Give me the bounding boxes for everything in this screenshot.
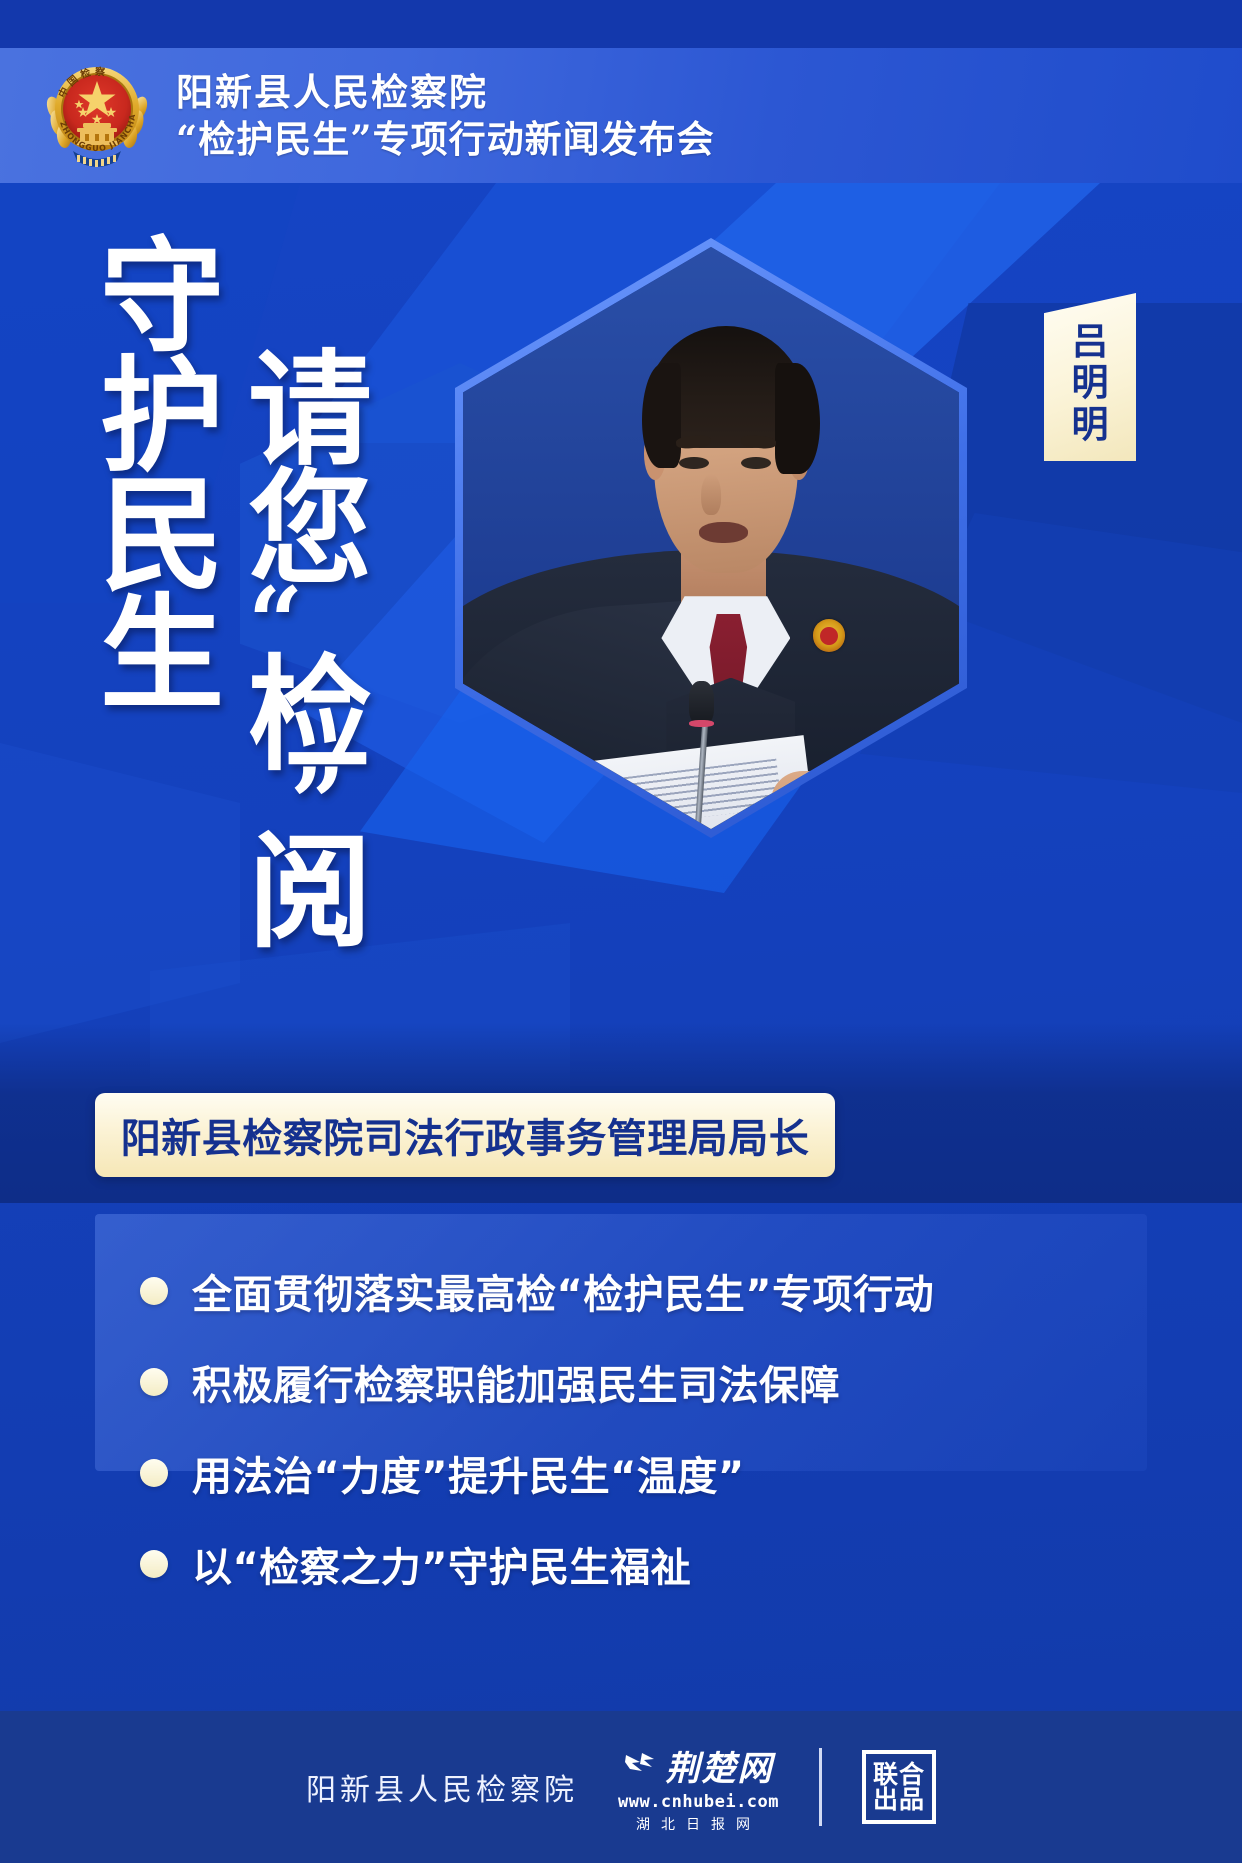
- portrait-eye-left: [679, 457, 709, 469]
- cnhubei-url: www.cnhubei.com: [618, 1792, 779, 1812]
- speaker-name-char-3: 明: [1072, 405, 1109, 444]
- cnhubei-logo: 荆楚网 www.cnhubei.com 湖北日报网: [618, 1741, 779, 1834]
- cnhubei-bird-icon: [624, 1750, 658, 1780]
- cnhubei-logo-row: 荆楚网: [624, 1741, 774, 1790]
- slogan-column-2: 请 您 “ 检 ” 阅: [248, 351, 372, 952]
- footer-org-name: 阳新县人民检察院: [306, 1765, 578, 1809]
- bullet-dot-icon: [140, 1550, 168, 1578]
- slogan-c2-char-4: 阅: [248, 833, 372, 952]
- slogan-c2-char-1: 请: [248, 351, 372, 470]
- slogan-c1-char-2: 护: [100, 357, 224, 476]
- bullet-dot-icon: [140, 1368, 168, 1396]
- cnhubei-name: 荆楚网: [666, 1741, 774, 1790]
- china-procuratorate-emblem-icon: 中 国 检 察 ZHONGGUO JIANCHA: [43, 57, 151, 175]
- top-accent-strip: [0, 0, 1242, 48]
- speaker-name-char-2: 明: [1072, 363, 1109, 402]
- speaker-title-bar: 阳新县检察院司法行政事务管理局局长: [95, 1093, 835, 1177]
- cnhubei-cn-name: 湖北日报网: [636, 1814, 761, 1834]
- list-item: 用法治“力度”提升民生“温度”: [140, 1444, 1140, 1502]
- poster-header: 中 国 检 察 ZHONGGUO JIANCHA 阳新县人民检察院 “检护民生”…: [0, 48, 1242, 183]
- bullet-list: 全面贯彻落实最高检“检护民生”专项行动 积极履行检察职能加强民生司法保障 用法治…: [140, 1262, 1140, 1593]
- list-item: 以“检察之力”守护民生福祉: [140, 1535, 1140, 1593]
- header-title-block: 阳新县人民检察院 “检护民生”专项行动新闻发布会: [176, 71, 715, 160]
- portrait-nose: [701, 474, 721, 515]
- emblem-wrapper: 中 国 检 察 ZHONGGUO JIANCHA: [38, 52, 156, 180]
- poster-root: 中 国 检 察 ZHONGGUO JIANCHA 阳新县人民检察院 “检护民生”…: [0, 0, 1242, 1863]
- bullet-text-4: 以“检察之力”守护民生福祉: [192, 1535, 691, 1593]
- poster-footer: 阳新县人民检察院 荆楚网 www.cnhubei.com 湖北日报网 联合 出品: [0, 1711, 1242, 1863]
- slogan-block: 守 护 民 生 请 您 “ 检 ” 阅: [0, 183, 520, 883]
- slogan-c1-char-1: 守: [100, 238, 224, 357]
- list-item: 积极履行检察职能加强民生司法保障: [140, 1353, 1140, 1411]
- portrait-mouth: [699, 522, 749, 543]
- speaker-name-char-1: 吕: [1072, 322, 1109, 361]
- slogan-column-1: 守 护 民 生: [100, 238, 224, 714]
- bullet-text-3: 用法治“力度”提升民生“温度”: [192, 1444, 745, 1502]
- header-line-1: 阳新县人民检察院: [176, 71, 715, 114]
- lapel-emblem-icon: [813, 619, 846, 652]
- header-line-2: “检护民生”专项行动新闻发布会: [176, 118, 715, 161]
- slogan-c1-char-4: 生: [100, 595, 224, 714]
- footer-divider: [819, 1748, 822, 1826]
- slogan-c1-char-3: 民: [100, 476, 224, 595]
- microphone-icon: [689, 681, 715, 725]
- speaker-title-text: 阳新县检察院司法行政事务管理局局长: [121, 1106, 810, 1164]
- bullet-dot-icon: [140, 1459, 168, 1487]
- joint-production-stamp: 联合 出品: [862, 1750, 936, 1824]
- bullet-text-2: 积极履行检察职能加强民生司法保障: [192, 1353, 840, 1411]
- list-item: 全面贯彻落实最高检“检护民生”专项行动: [140, 1262, 1140, 1320]
- bullet-dot-icon: [140, 1277, 168, 1305]
- portrait-eye-right: [741, 457, 771, 469]
- microphone-ring: [689, 720, 714, 728]
- joint-line-1: 联合: [873, 1762, 925, 1787]
- bullet-text-1: 全面贯彻落实最高检“检护民生”专项行动: [192, 1262, 934, 1320]
- joint-line-2: 出品: [873, 1787, 925, 1812]
- portrait-hair-left: [642, 363, 682, 468]
- speaker-name-badge: 吕 明 明: [1044, 293, 1136, 461]
